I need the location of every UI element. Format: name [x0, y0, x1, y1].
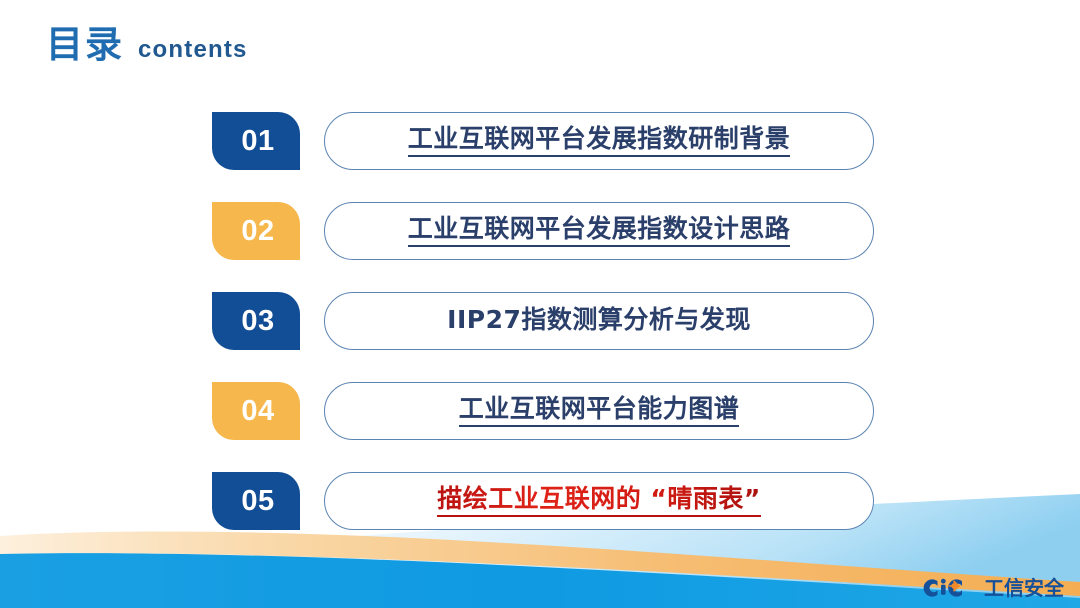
item-number-label: 03 — [237, 307, 274, 336]
item-number-badge-04[interactable]: 04 — [212, 382, 300, 440]
item-number-label: 04 — [237, 397, 274, 426]
slide-root: 目录 contents 01 工业互联网平台发展指数研制背景 02 工业互联网平… — [0, 0, 1080, 608]
item-number-label: 02 — [237, 217, 274, 246]
list-item[interactable]: 05 描绘工业互联网的 “晴雨表” — [212, 472, 874, 530]
list-item[interactable]: 02 工业互联网平台发展指数设计思路 — [212, 202, 874, 260]
page-title: 目录 contents — [46, 26, 248, 63]
page-title-en: contents — [138, 38, 248, 62]
item-number-badge-03[interactable]: 03 — [212, 292, 300, 350]
item-pill-05[interactable]: 描绘工业互联网的 “晴雨表” — [324, 472, 874, 530]
item-title-label: 工业互联网平台发展指数设计思路 — [408, 215, 791, 247]
item-pill-03[interactable]: IIP27指数测算分析与发现 — [324, 292, 874, 350]
company-logo: 工信安全 — [916, 576, 1064, 600]
list-item[interactable]: 01 工业互联网平台发展指数研制背景 — [212, 112, 874, 170]
list-item[interactable]: 03 IIP27指数测算分析与发现 — [212, 292, 874, 350]
item-number-badge-05[interactable]: 05 — [212, 472, 300, 530]
item-title-label: IIP27指数测算分析与发现 — [447, 306, 751, 336]
item-number-badge-01[interactable]: 01 — [212, 112, 300, 170]
page-title-cn: 目录 — [46, 26, 124, 63]
item-pill-01[interactable]: 工业互联网平台发展指数研制背景 — [324, 112, 874, 170]
cic-logomark-icon — [916, 576, 980, 600]
company-name-label: 工信安全 — [984, 578, 1064, 598]
list-item[interactable]: 04 工业互联网平台能力图谱 — [212, 382, 874, 440]
item-number-label: 01 — [237, 127, 274, 156]
item-title-label: 工业互联网平台能力图谱 — [459, 395, 740, 427]
item-title-label: 描绘工业互联网的 “晴雨表” — [437, 485, 761, 517]
item-number-badge-02[interactable]: 02 — [212, 202, 300, 260]
item-number-label: 05 — [237, 487, 274, 516]
item-title-label: 工业互联网平台发展指数研制背景 — [408, 125, 791, 157]
item-pill-04[interactable]: 工业互联网平台能力图谱 — [324, 382, 874, 440]
item-pill-02[interactable]: 工业互联网平台发展指数设计思路 — [324, 202, 874, 260]
